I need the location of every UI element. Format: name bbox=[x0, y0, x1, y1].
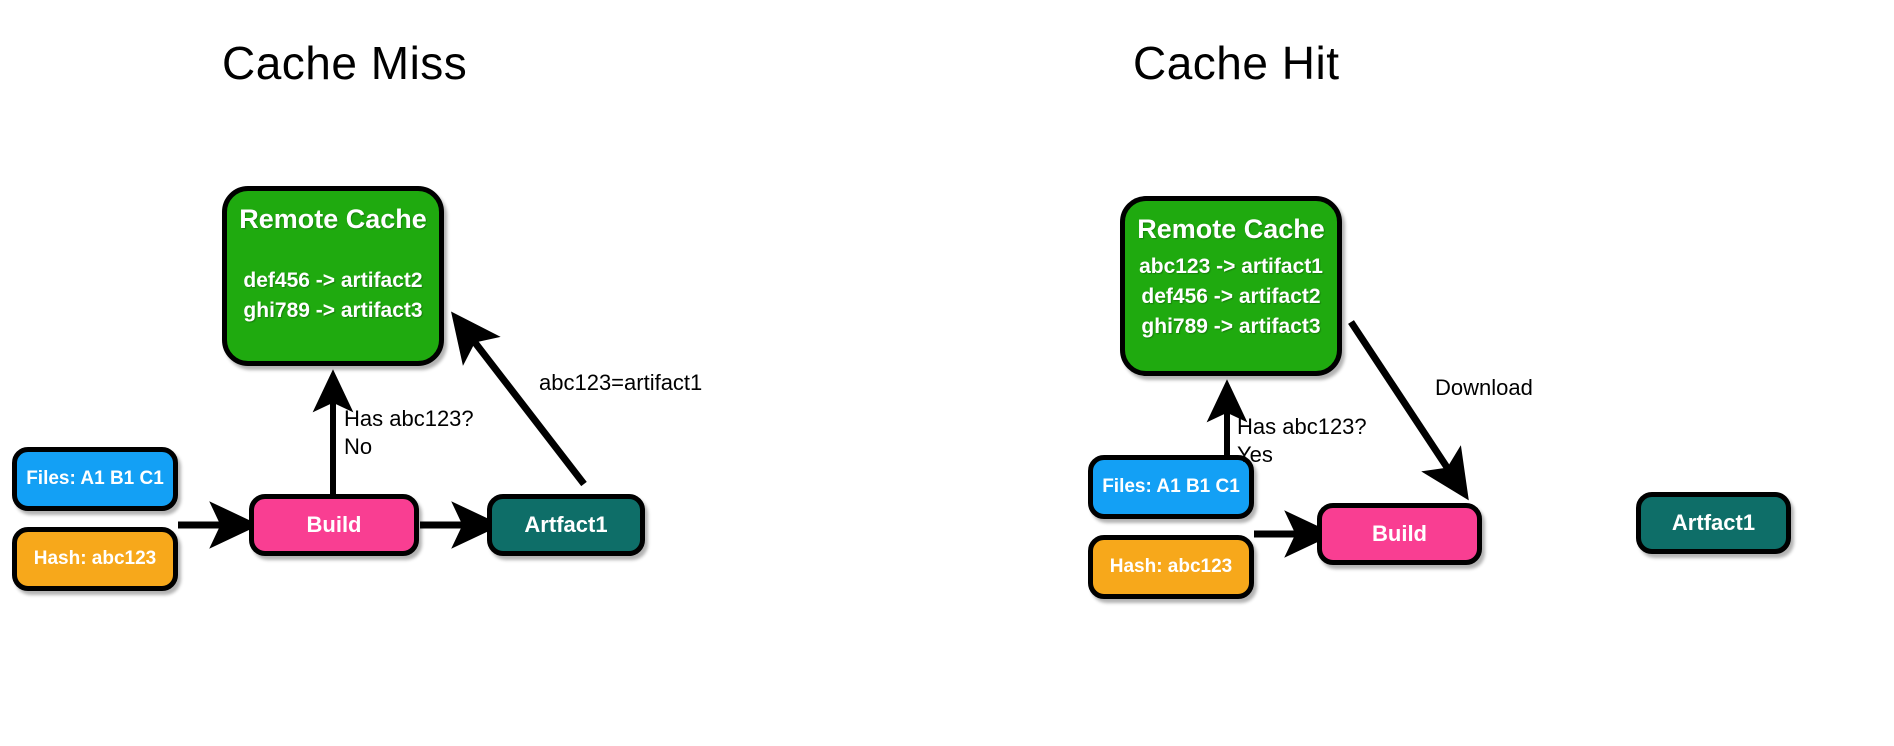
panel-cache-miss: Cache Miss Remote Cache def456 -> artifa… bbox=[0, 0, 947, 746]
artifact-box-label: Artfact1 bbox=[1672, 510, 1755, 537]
artifact-box-miss[interactable]: Artfact1 bbox=[487, 494, 645, 556]
query-label-miss: Has abc123? No bbox=[344, 405, 474, 461]
remote-cache-box-hit[interactable]: Remote Cache abc123 -> artifact1 def456 … bbox=[1120, 196, 1342, 376]
files-box-miss[interactable]: Files: A1 B1 C1 bbox=[12, 447, 178, 511]
cache-entry: def456 -> artifact2 bbox=[1141, 282, 1320, 312]
arrows-cache-miss bbox=[0, 0, 947, 746]
cache-entry: ghi789 -> artifact3 bbox=[243, 296, 422, 326]
download-label-hit: Download bbox=[1435, 374, 1533, 402]
panel-cache-hit: Cache Hit Remote Cache abc123 -> artifac… bbox=[947, 0, 1894, 746]
arrow-artifact-to-cache-upload bbox=[463, 327, 584, 484]
artifact-box-hit[interactable]: Artfact1 bbox=[1636, 492, 1791, 554]
hash-box-label: Hash: abc123 bbox=[1110, 555, 1233, 578]
artifact-box-label: Artfact1 bbox=[524, 512, 607, 539]
remote-cache-heading: Remote Cache bbox=[1137, 213, 1325, 246]
files-box-label: Files: A1 B1 C1 bbox=[1102, 475, 1240, 498]
arrow-cache-to-artifact-download bbox=[1351, 322, 1458, 484]
files-box-label: Files: A1 B1 C1 bbox=[26, 467, 164, 490]
cache-entry: ghi789 -> artifact3 bbox=[1141, 312, 1320, 342]
diagram-canvas: Cache Miss Remote Cache def456 -> artifa… bbox=[0, 0, 1894, 746]
remote-cache-box-miss[interactable]: Remote Cache def456 -> artifact2 ghi789 … bbox=[222, 186, 444, 366]
remote-cache-heading: Remote Cache bbox=[239, 203, 427, 236]
panel-title-cache-hit: Cache Hit bbox=[1133, 36, 1339, 90]
build-box-miss[interactable]: Build bbox=[249, 494, 419, 556]
hash-box-miss[interactable]: Hash: abc123 bbox=[12, 527, 178, 591]
hash-box-hit[interactable]: Hash: abc123 bbox=[1088, 535, 1254, 599]
hash-box-label: Hash: abc123 bbox=[34, 547, 157, 570]
query-label-hit: Has abc123? Yes bbox=[1237, 413, 1367, 469]
panel-title-cache-miss: Cache Miss bbox=[222, 36, 467, 90]
files-box-hit[interactable]: Files: A1 B1 C1 bbox=[1088, 455, 1254, 519]
cache-entry: def456 -> artifact2 bbox=[243, 266, 422, 296]
upload-label-miss: abc123=artifact1 bbox=[539, 369, 702, 397]
build-box-hit[interactable]: Build bbox=[1317, 503, 1482, 565]
arrows-cache-hit bbox=[947, 0, 1894, 746]
build-box-label: Build bbox=[307, 512, 362, 539]
build-box-label: Build bbox=[1372, 521, 1427, 548]
cache-entry: abc123 -> artifact1 bbox=[1139, 252, 1323, 282]
